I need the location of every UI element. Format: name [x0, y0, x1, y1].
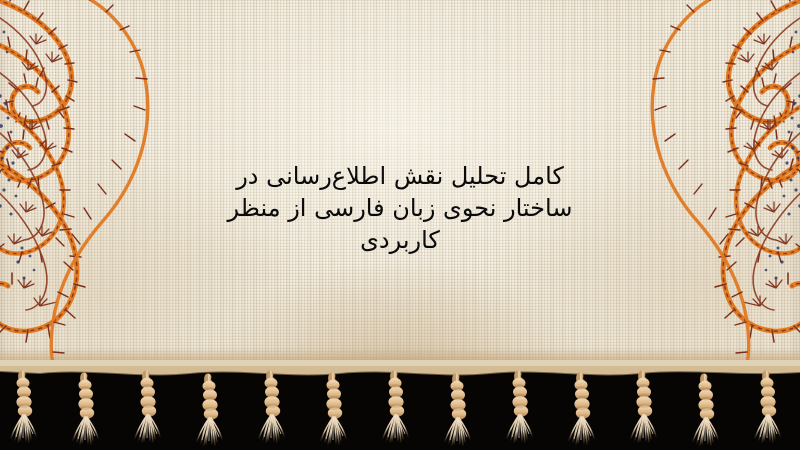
- title-line-2: ساختار نحوی زبان فارسی از منظر: [0, 192, 800, 224]
- title-line-3: کاربردی: [0, 224, 800, 256]
- knotted-tassel-fringe: [0, 360, 800, 450]
- slide-title: کامل تحلیل نقش اطلاع‌رسانی در ساختار نحو…: [0, 160, 800, 256]
- presentation-slide: کامل تحلیل نقش اطلاع‌رسانی در ساختار نحو…: [0, 0, 800, 450]
- title-line-1: کامل تحلیل نقش اطلاع‌رسانی در: [0, 160, 800, 192]
